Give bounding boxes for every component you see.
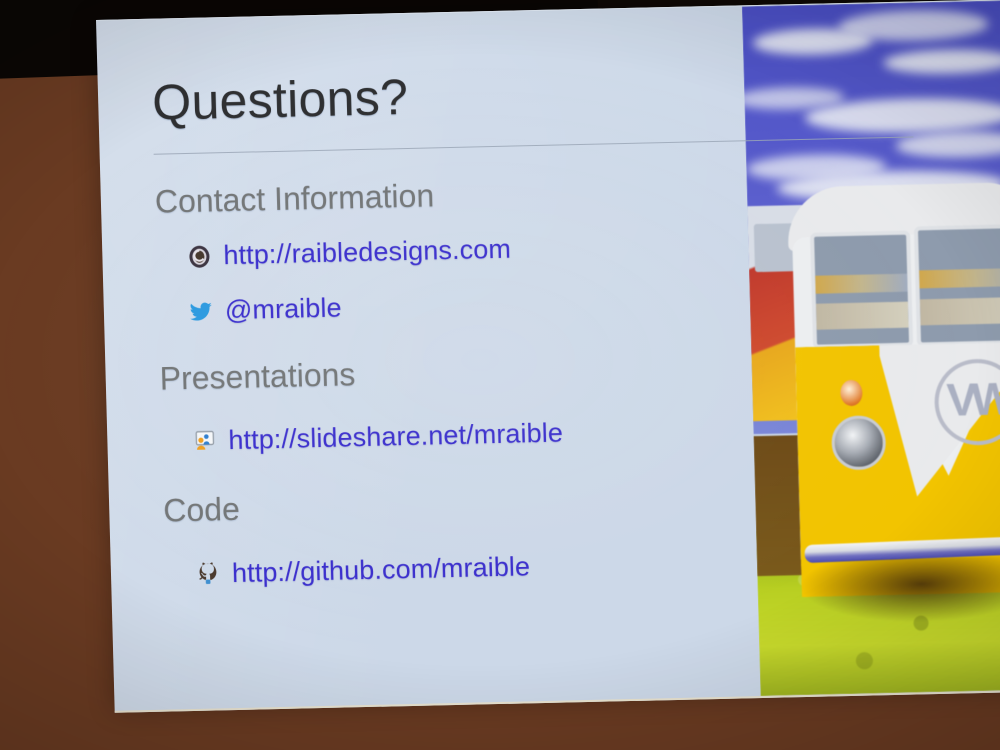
bus-windshield-right xyxy=(914,224,1000,347)
link-text-github[interactable]: http://github.com/mraible xyxy=(232,551,531,589)
link-text-twitter[interactable]: @mraible xyxy=(224,293,342,327)
bus-shadow xyxy=(799,556,1000,626)
link-row-twitter[interactable]: @mraible xyxy=(188,283,759,327)
link-row-github[interactable]: http://github.com/mraible xyxy=(195,546,766,590)
link-text-slideshare[interactable]: http://slideshare.net/mraible xyxy=(228,418,563,457)
link-row-slideshare[interactable]: http://slideshare.net/mraible xyxy=(191,413,762,457)
github-octocat-icon xyxy=(195,560,222,587)
vw-bus-photo: VW xyxy=(742,0,1000,696)
raible-designs-icon xyxy=(186,243,213,270)
section-heading-contact-information: Contact Information xyxy=(154,171,755,220)
link-row-blog[interactable]: http://raibledesigns.com xyxy=(186,228,757,272)
projection-room: Questions? Contact Information http://ra… xyxy=(0,0,1000,750)
twitter-bird-icon xyxy=(188,298,215,325)
link-text-blog[interactable]: http://raibledesigns.com xyxy=(223,234,511,272)
section-heading-presentations: Presentations xyxy=(159,348,760,397)
presentation-slide: Questions? Contact Information http://ra… xyxy=(96,0,1000,713)
bus-windshield-left xyxy=(810,231,913,349)
slide-content-column: Questions? Contact Information http://ra… xyxy=(152,64,766,590)
section-heading-code: Code xyxy=(163,480,764,529)
page-title: Questions? xyxy=(152,64,753,128)
projected-slide-surface: Questions? Contact Information http://ra… xyxy=(96,0,1000,710)
slideshare-icon xyxy=(191,428,218,455)
